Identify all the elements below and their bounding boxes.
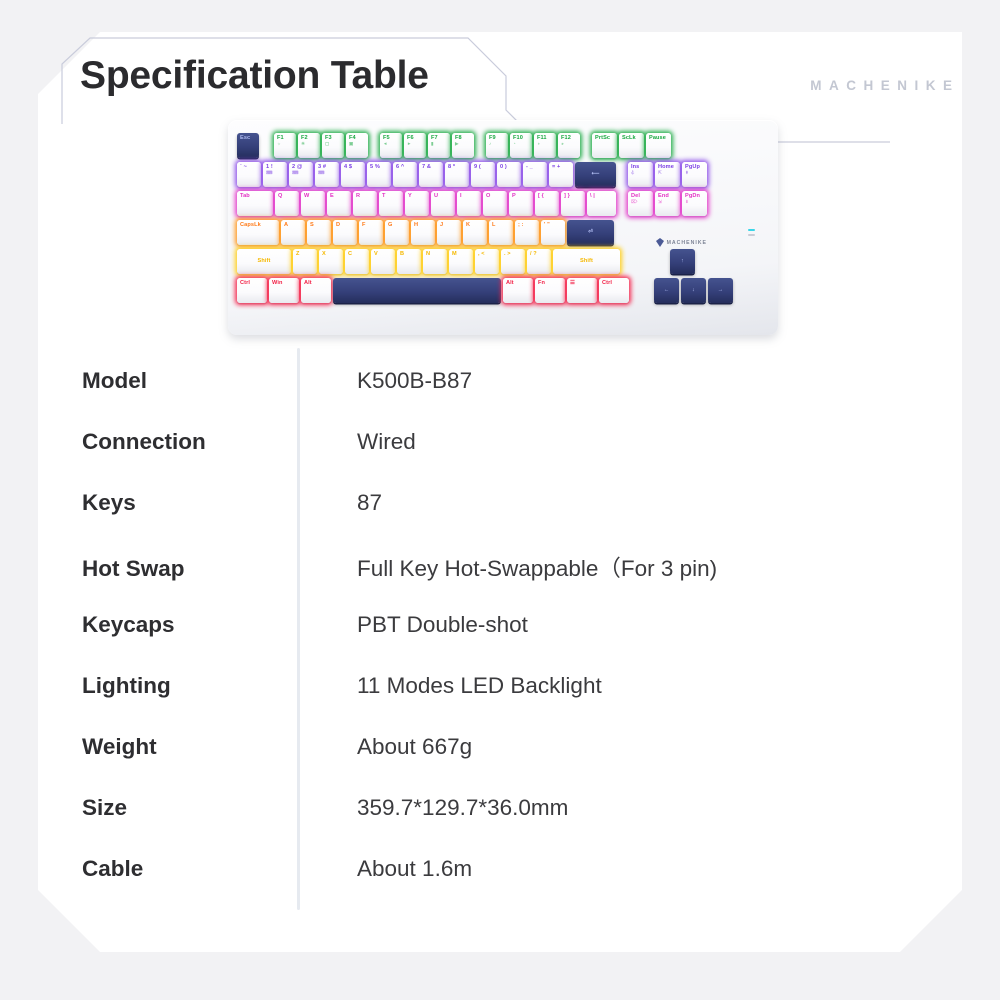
- key-legend: 7 &: [422, 165, 431, 171]
- page-title: Specification Table: [80, 54, 429, 98]
- key-q: Q: [275, 191, 299, 216]
- key-legend: ` ~: [240, 165, 247, 171]
- key-v: V: [371, 249, 395, 274]
- key-legend: V: [374, 252, 378, 258]
- keyboard-row-home-row: CapsLkASDFGHJKL; :' "⏎: [237, 220, 616, 245]
- key-legend: O: [486, 194, 490, 200]
- key-sublegend: ⇞: [685, 171, 689, 176]
- key-legend: Pause: [649, 136, 666, 142]
- key-legend: ; :: [518, 223, 524, 229]
- key-group: PrtScScLkPause: [592, 133, 673, 158]
- key-f11: F11◑: [534, 133, 556, 158]
- key-f9: F9♪: [486, 133, 508, 158]
- key-legend: ↑: [681, 259, 684, 265]
- key-legend: D: [336, 223, 340, 229]
- key-group: TabQWERTYUIOP[ {] }\ |: [237, 191, 618, 216]
- spec-label: Weight: [82, 734, 357, 760]
- spec-value: Full Key Hot-Swappable（For 3 pin): [357, 551, 717, 583]
- key-legend: F: [362, 223, 366, 229]
- key-sublegend: ⇲: [658, 200, 662, 205]
- key-legend: 5 %: [370, 165, 380, 171]
- keyboard-row-modifier-row: CtrlWinAltAltFn☰Ctrl←↓→: [237, 278, 735, 303]
- key-g: G: [385, 220, 409, 245]
- key-ctrl: Ctrl: [237, 278, 267, 303]
- key-fn: Fn: [535, 278, 565, 303]
- key---_: - _: [523, 162, 547, 187]
- key-ctrl: Ctrl: [599, 278, 629, 303]
- spec-value: 87: [357, 490, 382, 516]
- key-sublegend: ▶: [455, 142, 458, 147]
- key-legend: ' ": [544, 223, 550, 229]
- key-space: [333, 278, 501, 303]
- key-m: M: [449, 249, 473, 274]
- key-sublegend: ⌨: [266, 171, 272, 176]
- page-root: Specification Table M A C H E N I K E Es…: [0, 0, 1000, 1000]
- key-o: O: [483, 191, 507, 216]
- key-;-:: ; :: [515, 220, 539, 245]
- key-legend: I: [460, 194, 462, 200]
- key-i: I: [457, 191, 481, 216]
- key-pause: Pause: [646, 133, 671, 158]
- key-group: CtrlWinAltAltFn☰Ctrl: [237, 278, 631, 303]
- key-sublegend: ◕: [561, 142, 564, 147]
- key-capslk: CapsLk: [237, 220, 279, 245]
- key-legend: 4 $: [344, 165, 352, 171]
- key-legend: 8 *: [448, 165, 455, 171]
- key-]-}: ] }: [561, 191, 585, 216]
- spec-value: About 1.6m: [357, 856, 472, 882]
- key-\-|: \ |: [587, 191, 616, 216]
- key-sclk: ScLk: [619, 133, 644, 158]
- key-[-{: [ {: [535, 191, 559, 216]
- key-legend: Z: [296, 252, 300, 258]
- key-'-": ' ": [541, 220, 565, 245]
- key-f12: F12◕: [558, 133, 580, 158]
- key-4-$: 4 $: [341, 162, 365, 187]
- key-legend: S: [310, 223, 314, 229]
- key-group: Esc: [237, 133, 261, 158]
- key-b: B: [397, 249, 421, 274]
- key-del: Del⌦: [628, 191, 653, 216]
- spec-label: Lighting: [82, 673, 357, 699]
- key-sublegend: ▢: [325, 142, 329, 147]
- key-j: J: [437, 220, 461, 245]
- spec-value: K500B-B87: [357, 368, 472, 394]
- key-f1: F1☼: [274, 133, 296, 158]
- key-legend: U: [434, 194, 438, 200]
- key-w: W: [301, 191, 325, 216]
- spec-value: Wired: [357, 429, 416, 455]
- key-legend: Fn: [538, 281, 545, 287]
- brand-letter: N: [897, 79, 909, 93]
- spec-label: Size: [82, 795, 357, 821]
- key-8-*: 8 *: [445, 162, 469, 187]
- brand-letter: H: [863, 79, 875, 93]
- key-legend: ←: [664, 288, 670, 294]
- key-z: Z: [293, 249, 317, 274]
- key-7-&: 7 &: [419, 162, 443, 187]
- key-group: F9♪F10◔F11◑F12◕: [486, 133, 582, 158]
- key-legend: →: [718, 288, 724, 294]
- key-legend: B: [400, 252, 404, 258]
- key-prtsc: PrtSc: [592, 133, 617, 158]
- keyboard-row-function-row: EscF1☼F2☀F3▢F4▣F5◄F6►F7▮F8▶F9♪F10◔F11◑F1…: [237, 133, 673, 158]
- spec-row: Size359.7*129.7*36.0mm: [82, 795, 912, 856]
- key-f6: F6►: [404, 133, 426, 158]
- key-legend: Shift: [580, 259, 593, 265]
- key-pgup: PgUp⇞: [682, 162, 707, 187]
- spec-row: WeightAbout 667g: [82, 734, 912, 795]
- key-sublegend: ⇱: [658, 171, 662, 176]
- spec-value: About 667g: [357, 734, 472, 760]
- key-e: E: [327, 191, 351, 216]
- brand-letter: E: [943, 79, 954, 93]
- key-legend: K: [466, 223, 470, 229]
- key-legend: - _: [526, 165, 533, 171]
- spec-row: Hot SwapFull Key Hot-Swappable（For 3 pin…: [82, 551, 912, 612]
- key-n: N: [423, 249, 447, 274]
- brand-letter: C: [846, 79, 858, 93]
- key-legend: N: [426, 252, 430, 258]
- key-legend: R: [356, 194, 360, 200]
- key-y: Y: [405, 191, 429, 216]
- brand-letter: K: [926, 79, 938, 93]
- key-sublegend: ☀: [301, 142, 305, 147]
- key-legend: E: [330, 194, 334, 200]
- key-pgdn: PgDn⇟: [682, 191, 707, 216]
- product-image-keyboard: EscF1☼F2☀F3▢F4▣F5◄F6►F7▮F8▶F9♪F10◔F11◑F1…: [228, 120, 778, 335]
- key-legend: ↓: [692, 288, 695, 294]
- spec-label: Cable: [82, 856, 357, 882]
- key-sublegend: ▮: [431, 142, 434, 147]
- spec-label: Connection: [82, 429, 357, 455]
- spec-label: Hot Swap: [82, 556, 357, 582]
- key-legend: 0 ): [500, 165, 507, 171]
- key-legend: Alt: [304, 281, 312, 287]
- key-⟵: ⟵: [575, 162, 616, 187]
- key-f5: F5◄: [380, 133, 402, 158]
- key-legend: PrtSc: [595, 136, 610, 142]
- specification-table: ModelK500B-B87ConnectionWiredKeys87Hot S…: [82, 368, 912, 917]
- keyboard-led-indicators: [748, 229, 755, 239]
- key-u: U: [431, 191, 455, 216]
- key-⏎: ⏎: [567, 220, 614, 245]
- key-legend: ] }: [564, 194, 570, 200]
- key-shift: Shift: [237, 249, 291, 274]
- keyboard-row-number-row: ` ~1 !⌨2 @⌨3 #⌨4 $5 %6 ^7 &8 *9 (0 )- _=…: [237, 162, 709, 187]
- key-legend: [ {: [538, 194, 544, 200]
- key-legend: ☰: [570, 281, 575, 287]
- key-legend: Shift: [258, 259, 271, 265]
- key-legend: C: [348, 252, 352, 258]
- key-legend: = +: [552, 165, 560, 171]
- key-h: H: [411, 220, 435, 245]
- key-`-~: ` ~: [237, 162, 261, 187]
- key-legend: ScLk: [622, 136, 636, 142]
- key-legend: W: [304, 194, 309, 200]
- spec-label: Model: [82, 368, 357, 394]
- key-ins: Ins⎀: [628, 162, 653, 187]
- key-.->: . >: [501, 249, 525, 274]
- key-sublegend: ▣: [349, 142, 353, 147]
- key-sublegend: ⌨: [318, 171, 324, 176]
- key-legend: H: [414, 223, 418, 229]
- key-r: R: [353, 191, 377, 216]
- key-tab: Tab: [237, 191, 273, 216]
- key-group: ` ~1 !⌨2 @⌨3 #⌨4 $5 %6 ^7 &8 *9 (0 )- _=…: [237, 162, 618, 187]
- key-end: End⇲: [655, 191, 680, 216]
- key-sublegend: ◄: [383, 142, 387, 147]
- key-legend: ⏎: [588, 230, 593, 236]
- key-sublegend: ⎀: [631, 171, 635, 176]
- key-f4: F4▣: [346, 133, 368, 158]
- key-f: F: [359, 220, 383, 245]
- key-group: CapsLkASDFGHJKL; :' "⏎: [237, 220, 616, 245]
- key-group: ↑: [670, 249, 697, 274]
- spec-label: Keys: [82, 490, 357, 516]
- key-group: Del⌦End⇲PgDn⇟: [628, 191, 709, 216]
- key-2-@: 2 @⌨: [289, 162, 313, 187]
- key-s: S: [307, 220, 331, 245]
- key-legend: ⟵: [591, 172, 599, 178]
- key-/-?: / ?: [527, 249, 551, 274]
- key-x: X: [319, 249, 343, 274]
- key-legend: M: [452, 252, 457, 258]
- brand-letter: E: [881, 79, 892, 93]
- key-←: ←: [654, 278, 679, 303]
- key-sublegend: ⇟: [685, 200, 689, 205]
- spec-label: Keycaps: [82, 612, 357, 638]
- key-a: A: [281, 220, 305, 245]
- spec-row: Lighting11 Modes LED Backlight: [82, 673, 912, 734]
- spec-row: KeycapsPBT Double-shot: [82, 612, 912, 673]
- spec-value: 11 Modes LED Backlight: [357, 673, 602, 699]
- key-sublegend: ►: [407, 142, 411, 147]
- spec-row: ConnectionWired: [82, 429, 912, 490]
- key-sublegend: ⌨: [292, 171, 298, 176]
- key-home: Home⇱: [655, 162, 680, 187]
- key-legend: Ctrl: [240, 281, 250, 287]
- key-→: →: [708, 278, 733, 303]
- key-legend: . >: [504, 252, 511, 258]
- key-legend: Y: [408, 194, 412, 200]
- key-d: D: [333, 220, 357, 245]
- keyboard-case: EscF1☼F2☀F3▢F4▣F5◄F6►F7▮F8▶F9♪F10◔F11◑F1…: [228, 120, 778, 335]
- key-alt: Alt: [301, 278, 331, 303]
- key-6-^: 6 ^: [393, 162, 417, 187]
- keyboard-plate: EscF1☼F2☀F3▢F4▣F5◄F6►F7▮F8▶F9♪F10◔F11◑F1…: [237, 129, 769, 323]
- key-sublegend: ◔: [513, 142, 516, 147]
- key-legend: Ctrl: [602, 281, 612, 287]
- spec-row: ModelK500B-B87: [82, 368, 912, 429]
- key-sublegend: ◑: [537, 142, 540, 147]
- led-1-icon: [748, 229, 755, 231]
- key-legend: / ?: [530, 252, 537, 258]
- keyboard-key-rows: EscF1☼F2☀F3▢F4▣F5◄F6►F7▮F8▶F9♪F10◔F11◑F1…: [237, 129, 769, 323]
- key-,-<: , <: [475, 249, 499, 274]
- key-sublegend: ⌦: [631, 200, 637, 205]
- key-f10: F10◔: [510, 133, 532, 158]
- key-legend: J: [440, 223, 443, 229]
- key-group: F1☼F2☀F3▢F4▣: [274, 133, 370, 158]
- key-legend: Tab: [240, 194, 250, 200]
- key-f3: F3▢: [322, 133, 344, 158]
- key-t: T: [379, 191, 403, 216]
- key-sublegend: ♪: [489, 142, 491, 147]
- spec-row: Keys87: [82, 490, 912, 551]
- key-legend: Q: [278, 194, 282, 200]
- key-group: ShiftZXCVBNM, <. >/ ?Shift: [237, 249, 622, 274]
- keyboard-brand-badge: MACHENIKE: [656, 238, 707, 247]
- spec-value: PBT Double-shot: [357, 612, 528, 638]
- keyboard-row-qwerty-row: TabQWERTYUIOP[ {] }\ |Del⌦End⇲PgDn⇟: [237, 191, 709, 216]
- key-f7: F7▮: [428, 133, 450, 158]
- key-legend: 6 ^: [396, 165, 404, 171]
- key-☰: ☰: [567, 278, 597, 303]
- diamond-icon: [656, 238, 664, 247]
- brand-letter: A: [829, 79, 841, 93]
- keyboard-badge-label: MACHENIKE: [667, 240, 707, 246]
- key-legend: L: [492, 223, 496, 229]
- key-shift: Shift: [553, 249, 620, 274]
- key-=-+: = +: [549, 162, 573, 187]
- key-legend: CapsLk: [240, 223, 261, 229]
- key-f2: F2☀: [298, 133, 320, 158]
- key-sublegend: ☼: [277, 142, 281, 147]
- key-c: C: [345, 249, 369, 274]
- key-↑: ↑: [670, 249, 695, 274]
- key-legend: Esc: [240, 136, 250, 142]
- key-legend: X: [322, 252, 326, 258]
- key-alt: Alt: [503, 278, 533, 303]
- key-9-(: 9 (: [471, 162, 495, 187]
- key-0-): 0 ): [497, 162, 521, 187]
- key-legend: P: [512, 194, 516, 200]
- key-f8: F8▶: [452, 133, 474, 158]
- key-group: ←↓→: [654, 278, 735, 303]
- key-group: Ins⎀Home⇱PgUp⇞: [628, 162, 709, 187]
- key-l: L: [489, 220, 513, 245]
- key-↓: ↓: [681, 278, 706, 303]
- key-legend: A: [284, 223, 288, 229]
- keyboard-row-shift-row: ShiftZXCVBNM, <. >/ ?Shift↑: [237, 249, 697, 274]
- key-win: Win: [269, 278, 299, 303]
- key-legend: Win: [272, 281, 283, 287]
- key-legend: , <: [478, 252, 485, 258]
- key-group: F5◄F6►F7▮F8▶: [380, 133, 476, 158]
- brand-letter: I: [914, 79, 920, 93]
- key-5-%: 5 %: [367, 162, 391, 187]
- key-k: K: [463, 220, 487, 245]
- key-p: P: [509, 191, 533, 216]
- key-legend: Alt: [506, 281, 514, 287]
- key-esc: Esc: [237, 133, 259, 158]
- key-3-#: 3 #⌨: [315, 162, 339, 187]
- brand-letter: M: [810, 79, 823, 93]
- spec-row: CableAbout 1.6m: [82, 856, 912, 917]
- key-legend: G: [388, 223, 392, 229]
- machenike-brand-wordmark: M A C H E N I K E: [810, 79, 954, 93]
- led-2-icon: [748, 234, 755, 236]
- spec-value: 359.7*129.7*36.0mm: [357, 795, 568, 821]
- key-1-!: 1 !⌨: [263, 162, 287, 187]
- key-legend: 9 (: [474, 165, 481, 171]
- key-legend: \ |: [590, 194, 595, 200]
- key-legend: T: [382, 194, 386, 200]
